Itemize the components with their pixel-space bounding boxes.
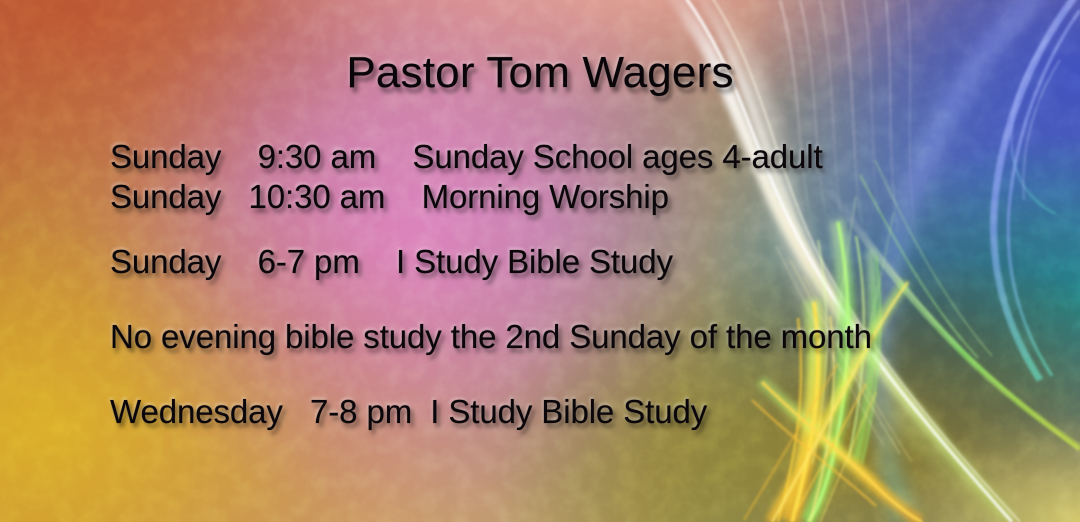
text-layer: Pastor Tom Wagers Sunday 9:30 am Sunday … [0,0,1080,522]
schedule-line-3: Sunday 6-7 pm I Study Bible Study [110,243,673,281]
schedule-note-no-evening-study: No evening bible study the 2nd Sunday of… [110,318,872,356]
pastor-name-title: Pastor Tom Wagers [0,48,1080,98]
schedule-line-5: Wednesday 7-8 pm I Study Bible Study [110,393,707,431]
schedule-line-2: Sunday 10:30 am Morning Worship [110,178,669,216]
schedule-line-1: Sunday 9:30 am Sunday School ages 4-adul… [110,138,823,176]
church-schedule-banner: Pastor Tom Wagers Sunday 9:30 am Sunday … [0,0,1080,522]
